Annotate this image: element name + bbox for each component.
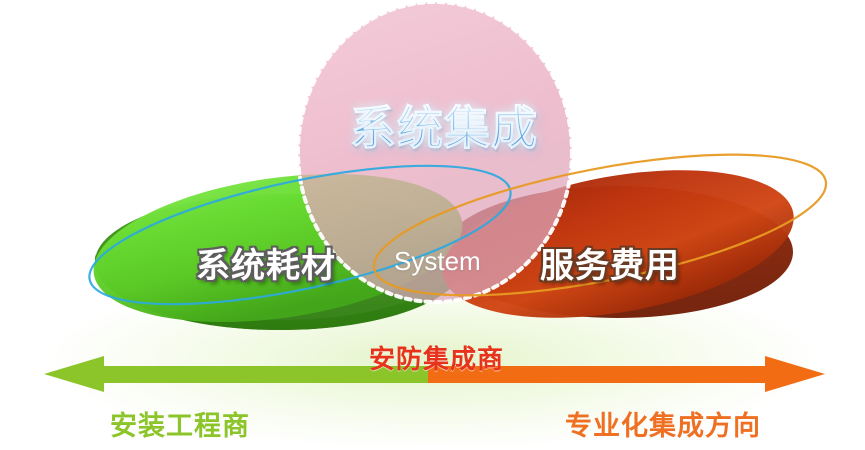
label-system-integration: 系统集成: [350, 92, 538, 158]
label-system-consumables: 系统耗材: [196, 238, 336, 287]
label-system-overlap: System: [394, 246, 481, 277]
venn-diagram-canvas: 系统集成 系统耗材 服务费用 System 安防集成商 安装工程商 专业化集成方…: [0, 0, 865, 450]
label-installation-contractor: 安装工程商: [110, 404, 250, 443]
label-service-fee: 服务费用: [540, 238, 680, 287]
label-security-integrator: 安防集成商: [369, 339, 504, 376]
label-specialization-direction: 专业化集成方向: [565, 404, 761, 443]
